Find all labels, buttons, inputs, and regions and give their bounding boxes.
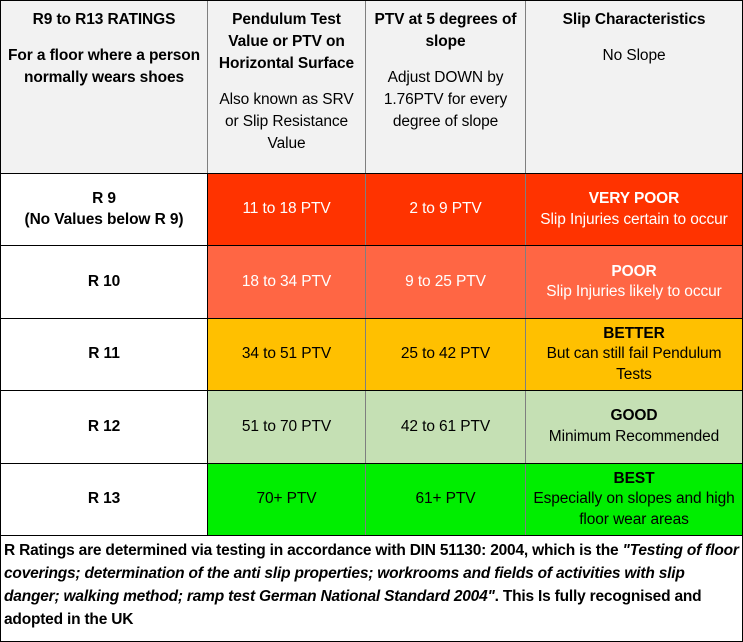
slip-char-description: Minimum Recommended <box>549 427 719 447</box>
slip-char-heading: POOR <box>611 262 656 282</box>
cell-rating: R 12 <box>1 391 208 462</box>
header-cell-slip-characteristics: Slip Characteristics No Slope <box>526 1 742 173</box>
slip-char-description: Especially on slopes and high floor wear… <box>531 489 737 530</box>
table-row: R 11 34 to 51 PTV 25 to 42 PTV BETTER Bu… <box>1 319 742 391</box>
cell-rating: R 10 <box>1 246 208 317</box>
table-row: R 13 70+ PTV 61+ PTV BEST Especially on … <box>1 464 742 536</box>
slip-char-description: Slip Injuries likely to occur <box>546 282 721 302</box>
header-ratings-title: R9 to R13 RATINGS <box>33 9 176 31</box>
rating-label: R 11 <box>88 344 120 364</box>
rating-label: R 10 <box>88 272 120 292</box>
rating-label: R 12 <box>88 417 120 437</box>
header-slip-title: Slip Characteristics <box>563 9 706 31</box>
rating-label: R 13 <box>88 489 120 509</box>
cell-rating: R 9 (No Values below R 9) <box>1 174 208 245</box>
slip-char-heading: GOOD <box>611 406 658 426</box>
cell-pendulum-value: 70+ PTV <box>208 464 366 535</box>
cell-slip-characteristic: GOOD Minimum Recommended <box>526 391 742 462</box>
cell-ptv5-value: 42 to 61 PTV <box>366 391 526 462</box>
slip-char-description: Slip Injuries certain to occur <box>540 210 727 230</box>
slip-char-heading: BEST <box>614 469 655 489</box>
header-slip-sub: No Slope <box>603 45 666 67</box>
cell-ptv5-value: 25 to 42 PTV <box>366 319 526 390</box>
rating-label: R 9 <box>92 189 116 209</box>
cell-pendulum-value: 18 to 34 PTV <box>208 246 366 317</box>
cell-ptv5-value: 9 to 25 PTV <box>366 246 526 317</box>
r-ratings-table: R9 to R13 RATINGS For a floor where a pe… <box>0 0 743 642</box>
header-ptv5-sub: Adjust DOWN by 1.76PTV for every degree … <box>372 67 519 133</box>
table-footnote: R Ratings are determined via testing in … <box>1 536 742 641</box>
slip-char-description: But can still fail Pendulum Tests <box>531 344 737 385</box>
header-cell-ptv5: PTV at 5 degrees of slope Adjust DOWN by… <box>366 1 526 173</box>
table-header-row: R9 to R13 RATINGS For a floor where a pe… <box>1 1 742 174</box>
rating-note: (No Values below R 9) <box>25 210 184 230</box>
cell-slip-characteristic: BEST Especially on slopes and high floor… <box>526 464 742 535</box>
header-ratings-subtitle: For a floor where a person normally wear… <box>7 45 201 89</box>
table-row: R 9 (No Values below R 9) 11 to 18 PTV 2… <box>1 174 742 246</box>
cell-rating: R 11 <box>1 319 208 390</box>
footnote-part-1: R Ratings are determined via testing in … <box>4 542 623 559</box>
header-ptv5-title: PTV at 5 degrees of slope <box>372 9 519 53</box>
cell-rating: R 13 <box>1 464 208 535</box>
slip-char-heading: BETTER <box>603 324 664 344</box>
cell-slip-characteristic: VERY POOR Slip Injuries certain to occur <box>526 174 742 245</box>
cell-slip-characteristic: BETTER But can still fail Pendulum Tests <box>526 319 742 390</box>
header-pendulum-title: Pendulum Test Value or PTV on Horizontal… <box>214 9 359 75</box>
cell-slip-characteristic: POOR Slip Injuries likely to occur <box>526 246 742 317</box>
table-row: R 10 18 to 34 PTV 9 to 25 PTV POOR Slip … <box>1 246 742 318</box>
header-cell-pendulum: Pendulum Test Value or PTV on Horizontal… <box>208 1 366 173</box>
cell-ptv5-value: 61+ PTV <box>366 464 526 535</box>
header-pendulum-sub: Also known as SRV or Slip Resistance Val… <box>214 89 359 155</box>
table-row: R 12 51 to 70 PTV 42 to 61 PTV GOOD Mini… <box>1 391 742 463</box>
slip-char-heading: VERY POOR <box>589 189 679 209</box>
header-cell-ratings: R9 to R13 RATINGS For a floor where a pe… <box>1 1 208 173</box>
cell-ptv5-value: 2 to 9 PTV <box>366 174 526 245</box>
cell-pendulum-value: 11 to 18 PTV <box>208 174 366 245</box>
cell-pendulum-value: 51 to 70 PTV <box>208 391 366 462</box>
cell-pendulum-value: 34 to 51 PTV <box>208 319 366 390</box>
